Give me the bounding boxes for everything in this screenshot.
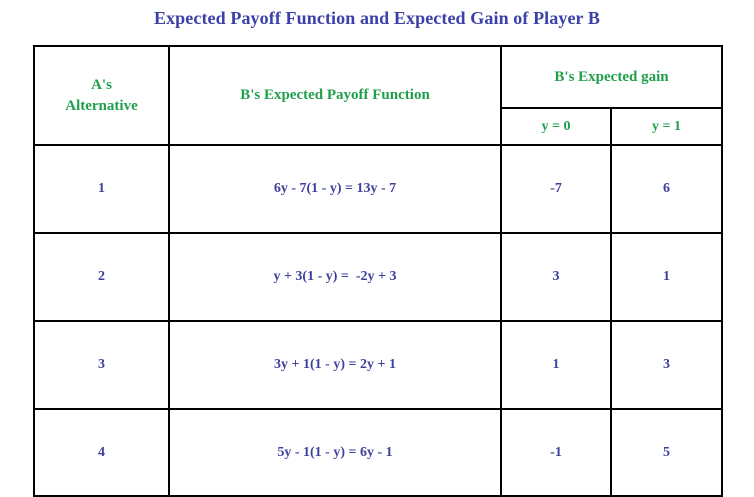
table-header: A's Alternative B's Expected Payoff Func… bbox=[34, 46, 722, 145]
table-body: 1 6y - 7(1 - y) = 13y - 7 -7 6 2 y + 3(1… bbox=[34, 145, 722, 496]
cell-payoff-function: 6y - 7(1 - y) = 13y - 7 bbox=[169, 145, 501, 233]
column-header-y1: y = 1 bbox=[611, 108, 722, 145]
header-row-primary: A's Alternative B's Expected Payoff Func… bbox=[34, 46, 722, 108]
cell-gain-y0: -7 bbox=[501, 145, 611, 233]
cell-gain-y0: -1 bbox=[501, 409, 611, 496]
cell-gain-y1: 1 bbox=[611, 233, 722, 321]
table-row: 4 5y - 1(1 - y) = 6y - 1 -1 5 bbox=[34, 409, 722, 496]
cell-alternative: 1 bbox=[34, 145, 169, 233]
cell-payoff-function: 5y - 1(1 - y) = 6y - 1 bbox=[169, 409, 501, 496]
cell-gain-y1: 3 bbox=[611, 321, 722, 409]
page-title: Expected Payoff Function and Expected Ga… bbox=[0, 8, 754, 29]
table-row: 1 6y - 7(1 - y) = 13y - 7 -7 6 bbox=[34, 145, 722, 233]
column-header-payoff-function: B's Expected Payoff Function bbox=[169, 46, 501, 145]
cell-alternative: 4 bbox=[34, 409, 169, 496]
column-header-alternative-line1: A's bbox=[35, 75, 168, 95]
cell-alternative: 2 bbox=[34, 233, 169, 321]
cell-gain-y1: 6 bbox=[611, 145, 722, 233]
cell-gain-y0: 1 bbox=[501, 321, 611, 409]
cell-gain-y1: 5 bbox=[611, 409, 722, 496]
cell-alternative: 3 bbox=[34, 321, 169, 409]
column-header-y0: y = 0 bbox=[501, 108, 611, 145]
table-row: 3 3y + 1(1 - y) = 2y + 1 1 3 bbox=[34, 321, 722, 409]
cell-gain-y0: 3 bbox=[501, 233, 611, 321]
column-header-alternative-line2: Alternative bbox=[35, 96, 168, 116]
column-header-alternative: A's Alternative bbox=[34, 46, 169, 145]
cell-payoff-function: 3y + 1(1 - y) = 2y + 1 bbox=[169, 321, 501, 409]
cell-payoff-function: y + 3(1 - y) = -2y + 3 bbox=[169, 233, 501, 321]
column-header-expected-gain: B's Expected gain bbox=[501, 46, 722, 108]
expected-payoff-table: A's Alternative B's Expected Payoff Func… bbox=[33, 45, 723, 497]
table-row: 2 y + 3(1 - y) = -2y + 3 3 1 bbox=[34, 233, 722, 321]
